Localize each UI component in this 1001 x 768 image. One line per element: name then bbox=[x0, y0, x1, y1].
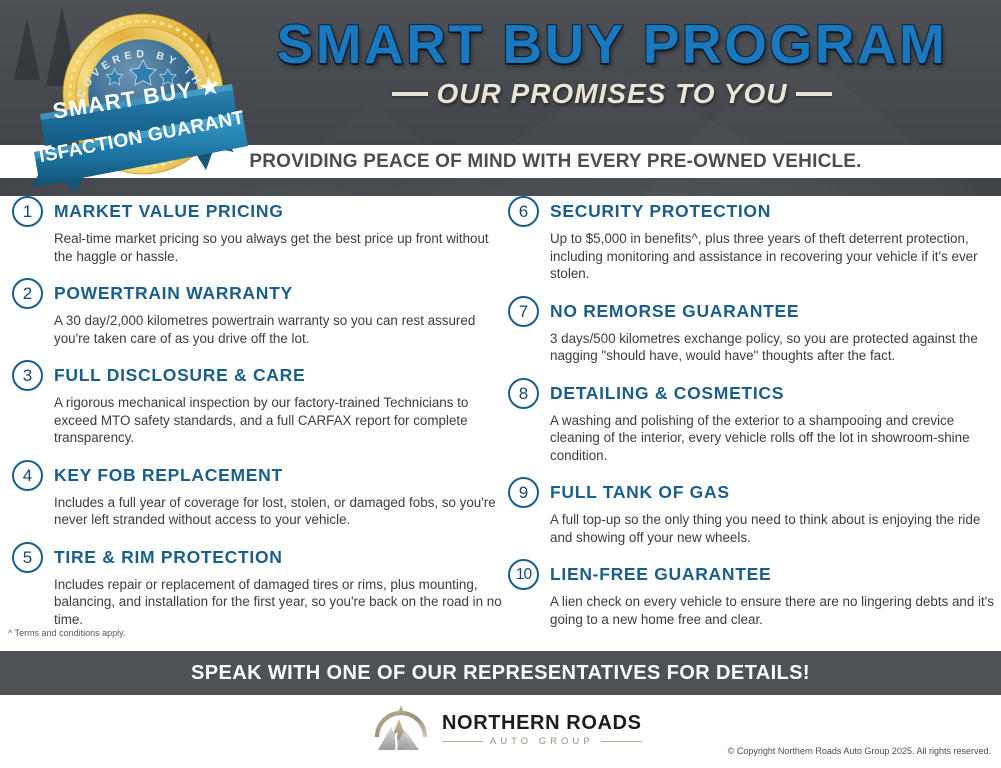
cta-text: SPEAK WITH ONE OF OUR REPRESENTATIVES FO… bbox=[191, 662, 810, 685]
brand-logo[interactable]: NORTHERN ROADS AUTO GROUP bbox=[372, 703, 642, 755]
promises-column-left: 1 MARKET VALUE PRICING Real-time market … bbox=[12, 196, 502, 641]
promise-item: 5 TIRE & RIM PROTECTION Includes repair … bbox=[12, 542, 502, 629]
footer: NORTHERN ROADS AUTO GROUP © Copyright No… bbox=[0, 695, 1001, 768]
promise-number-badge: 8 bbox=[508, 378, 539, 409]
promise-number-badge: 3 bbox=[12, 360, 43, 391]
logo-rule-left bbox=[442, 741, 483, 742]
promise-header: 2 POWERTRAIN WARRANTY bbox=[12, 278, 502, 309]
promise-body: A lien check on every vehicle to ensure … bbox=[550, 593, 998, 628]
promise-body: A washing and polishing of the exterior … bbox=[550, 412, 998, 465]
promise-body: 3 days/500 kilometres exchange policy, s… bbox=[550, 330, 998, 365]
satisfaction-guarantee-badge: COVERED BY THE ★ SMART BUY ★ SATISFACTIO… bbox=[18, 2, 268, 192]
smart-buy-program-page: SMART BUY PROGRAM OUR PROMISES TO YOU PR… bbox=[0, 0, 1001, 768]
promise-header: 6 SECURITY PROTECTION bbox=[508, 196, 998, 227]
logo-rule-right bbox=[601, 741, 642, 742]
promise-body: A rigorous mechanical inspection by our … bbox=[54, 394, 502, 447]
promise-number-badge: 5 bbox=[12, 542, 43, 573]
subtitle-rule-right bbox=[796, 92, 832, 96]
promise-item: 6 SECURITY PROTECTION Up to $5,000 in be… bbox=[508, 196, 998, 283]
header-title-group: SMART BUY PROGRAM OUR PROMISES TO YOU bbox=[232, 14, 992, 110]
promise-item: 9 FULL TANK OF GAS A full top-up so the … bbox=[508, 477, 998, 546]
promise-header: 3 FULL DISCLOSURE & CARE bbox=[12, 360, 502, 391]
promise-number-badge: 4 bbox=[12, 460, 43, 491]
promise-header: 5 TIRE & RIM PROTECTION bbox=[12, 542, 502, 573]
promise-header: 7 NO REMORSE GUARANTEE bbox=[508, 296, 998, 327]
page-subtitle: OUR PROMISES TO YOU bbox=[437, 78, 788, 110]
promise-item: 10 LIEN-FREE GUARANTEE A lien check on e… bbox=[508, 559, 998, 628]
promise-number-badge: 6 bbox=[508, 196, 539, 227]
promise-title: FULL TANK OF GAS bbox=[550, 482, 730, 503]
promises-column-right: 6 SECURITY PROTECTION Up to $5,000 in be… bbox=[508, 196, 998, 641]
promise-item: 3 FULL DISCLOSURE & CARE A rigorous mech… bbox=[12, 360, 502, 447]
mountain-compass-logo-icon bbox=[372, 703, 430, 755]
promise-body: Up to $5,000 in benefits^, plus three ye… bbox=[550, 230, 998, 283]
promise-title: NO REMORSE GUARANTEE bbox=[550, 301, 799, 322]
promise-title: KEY FOB REPLACEMENT bbox=[54, 465, 283, 486]
header-subtitle-row: OUR PROMISES TO YOU bbox=[232, 78, 992, 110]
promise-title: DETAILING & COSMETICS bbox=[550, 383, 784, 404]
promise-body: A full top-up so the only thing you need… bbox=[550, 511, 998, 546]
brand-tagline-row: AUTO GROUP bbox=[442, 736, 642, 747]
promise-body: Real-time market pricing so you always g… bbox=[54, 230, 502, 265]
promise-item: 8 DETAILING & COSMETICS A washing and po… bbox=[508, 378, 998, 465]
brand-name: NORTHERN ROADS bbox=[442, 712, 642, 734]
promise-header: 8 DETAILING & COSMETICS bbox=[508, 378, 998, 409]
promise-title: MARKET VALUE PRICING bbox=[54, 201, 284, 222]
cta-band: SPEAK WITH ONE OF OUR REPRESENTATIVES FO… bbox=[0, 651, 1001, 695]
promise-body: Includes a full year of coverage for los… bbox=[54, 494, 502, 529]
promise-header: 10 LIEN-FREE GUARANTEE bbox=[508, 559, 998, 590]
promise-item: 2 POWERTRAIN WARRANTY A 30 day/2,000 kil… bbox=[12, 278, 502, 347]
brand-logo-text: NORTHERN ROADS AUTO GROUP bbox=[442, 712, 642, 747]
promise-title: LIEN-FREE GUARANTEE bbox=[550, 564, 771, 585]
promise-title: POWERTRAIN WARRANTY bbox=[54, 283, 293, 304]
promise-body: Includes repair or replacement of damage… bbox=[54, 576, 502, 629]
promise-title: SECURITY PROTECTION bbox=[550, 201, 771, 222]
promise-item: 7 NO REMORSE GUARANTEE 3 days/500 kilome… bbox=[508, 296, 998, 365]
promise-number-badge: 9 bbox=[508, 477, 539, 508]
promise-item: 4 KEY FOB REPLACEMENT Includes a full ye… bbox=[12, 460, 502, 529]
promise-number-badge: 2 bbox=[12, 278, 43, 309]
promise-header: 9 FULL TANK OF GAS bbox=[508, 477, 998, 508]
subtitle-rule-left bbox=[392, 92, 428, 96]
promise-number-badge: 1 bbox=[12, 196, 43, 227]
page-title: SMART BUY PROGRAM bbox=[232, 14, 992, 74]
promise-item: 1 MARKET VALUE PRICING Real-time market … bbox=[12, 196, 502, 265]
terms-footnote: ^ Terms and conditions apply. bbox=[8, 628, 125, 638]
badge-seal-icon: COVERED BY THE ★ SMART BUY ★ SATISFACTIO… bbox=[18, 2, 268, 192]
promise-body: A 30 day/2,000 kilometres powertrain war… bbox=[54, 312, 502, 347]
promise-title: FULL DISCLOSURE & CARE bbox=[54, 365, 305, 386]
promise-number-badge: 7 bbox=[508, 296, 539, 327]
promise-number-badge: 10 bbox=[508, 559, 539, 590]
promise-header: 4 KEY FOB REPLACEMENT bbox=[12, 460, 502, 491]
promise-title: TIRE & RIM PROTECTION bbox=[54, 547, 283, 568]
copyright-text: © Copyright Northern Roads Auto Group 20… bbox=[728, 746, 991, 756]
promise-header: 1 MARKET VALUE PRICING bbox=[12, 196, 502, 227]
brand-tagline: AUTO GROUP bbox=[490, 736, 594, 747]
promises-content: 1 MARKET VALUE PRICING Real-time market … bbox=[0, 196, 1001, 651]
